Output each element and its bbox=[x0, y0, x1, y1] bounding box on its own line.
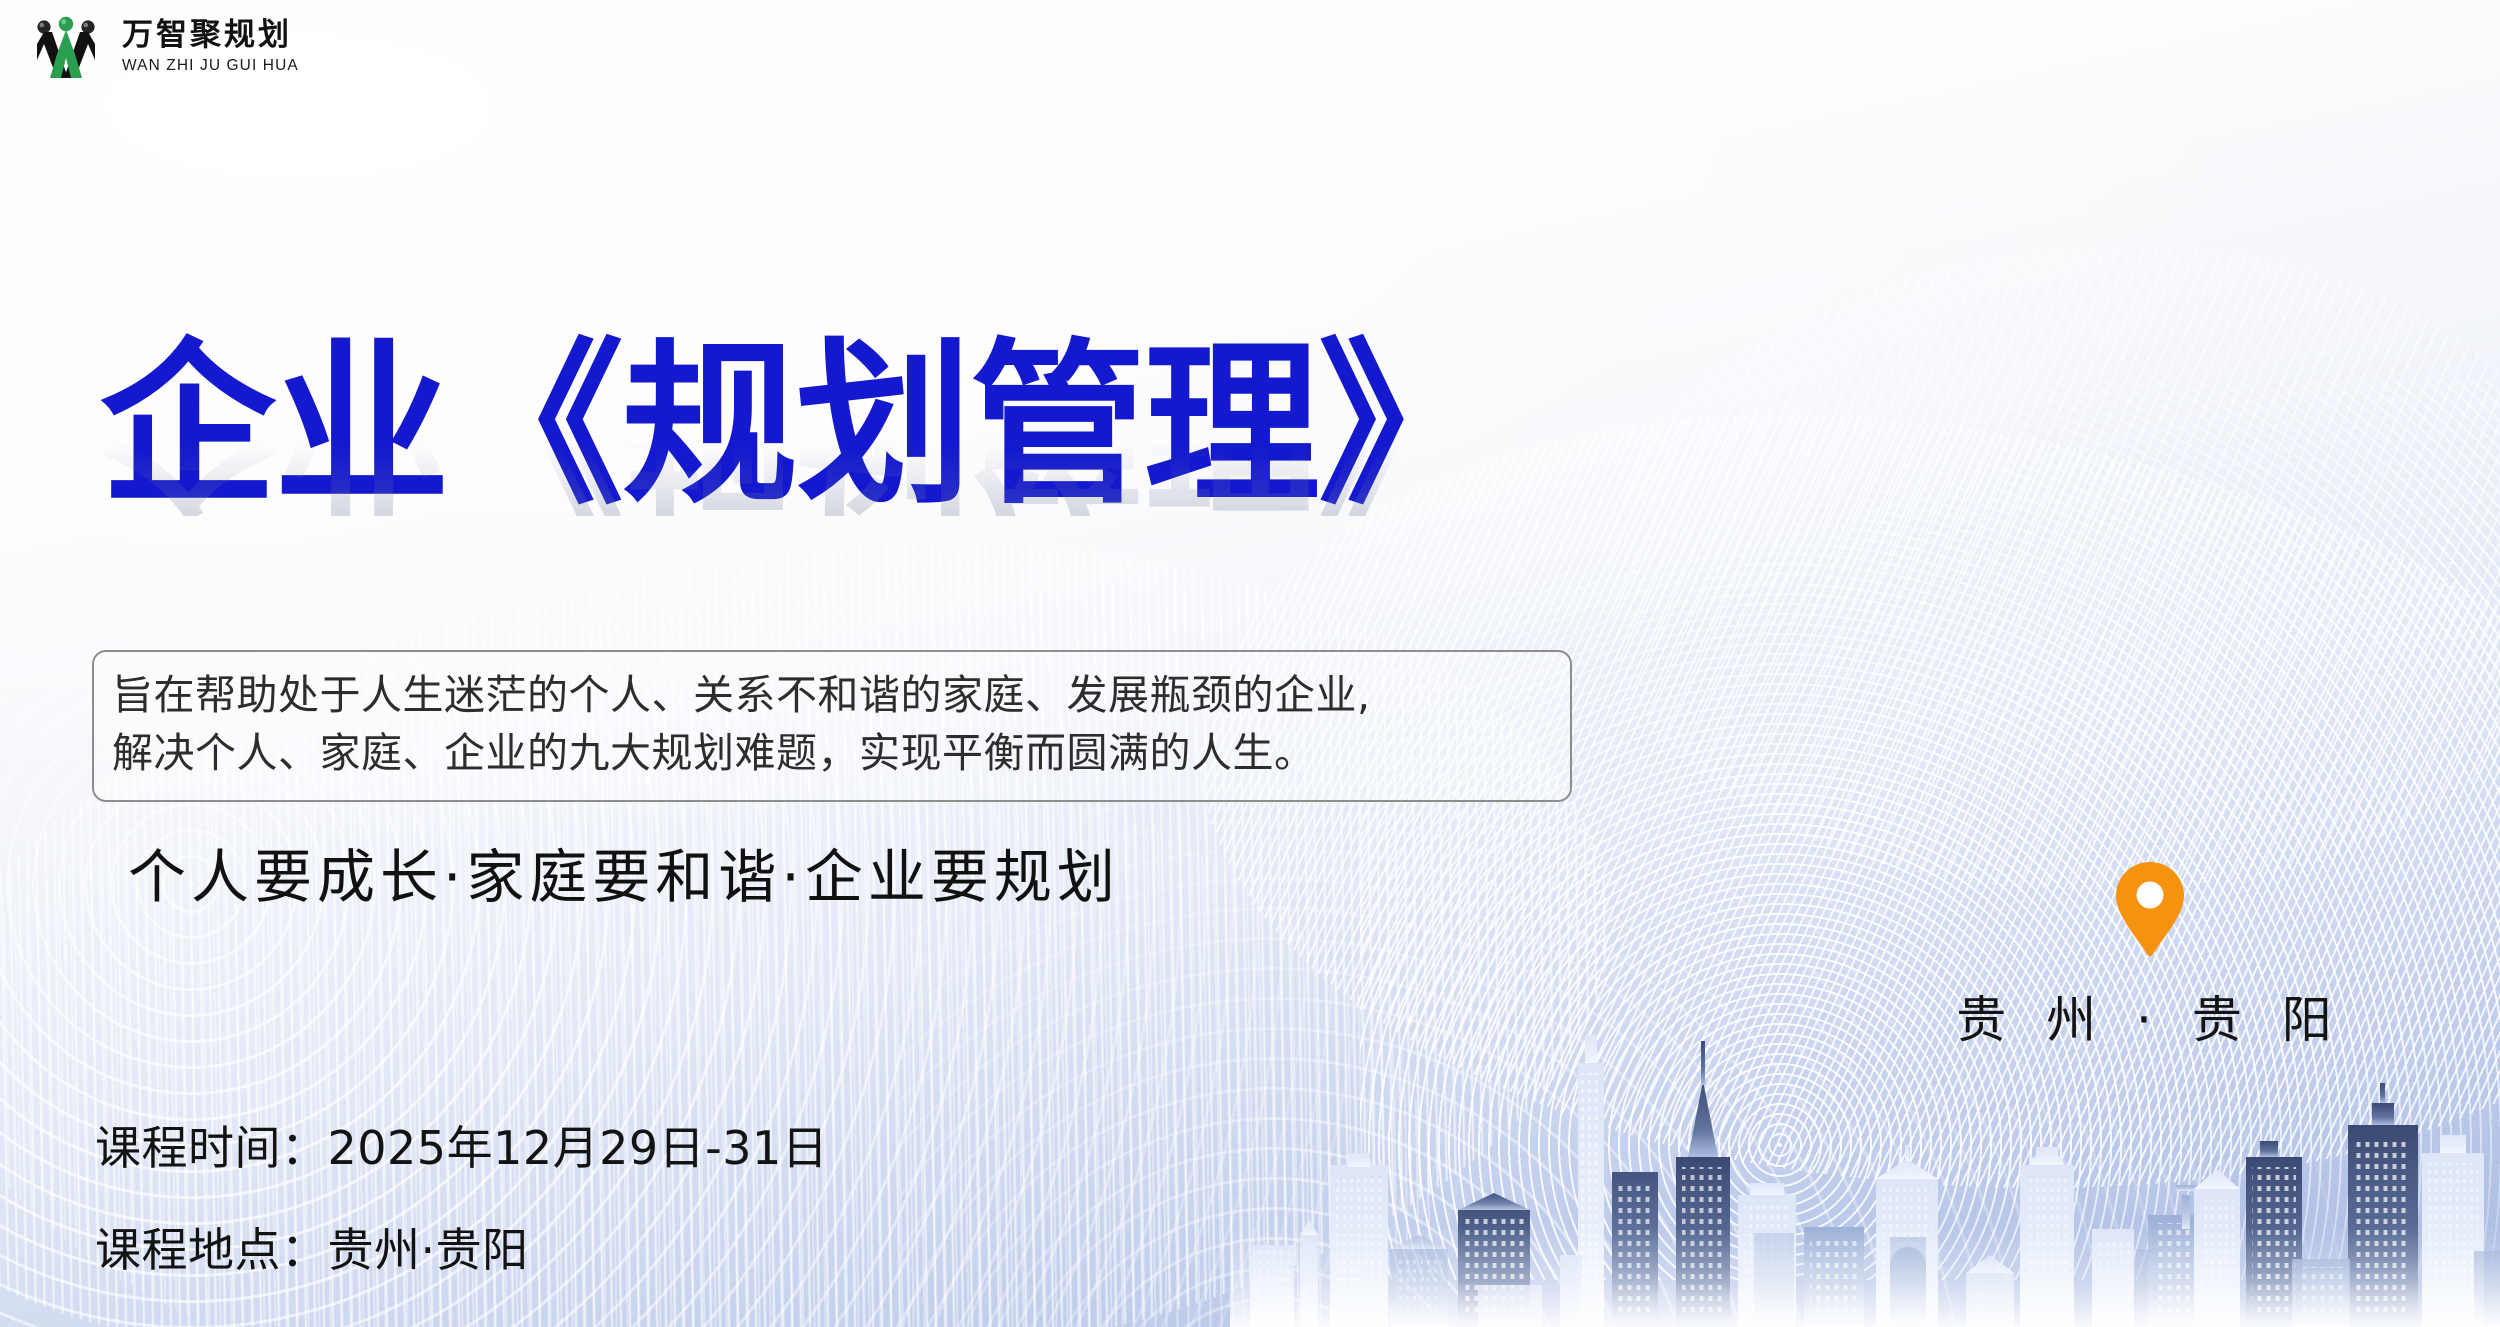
brand-wordmark: 万智聚规划 WAN ZHI JU GUI HUA bbox=[122, 20, 299, 74]
hero-title-block: 企业《规划管理》 企业《规划管理》 bbox=[100, 338, 1492, 600]
course-time-label: 课程时间：2025年12月29日-31日 bbox=[95, 1112, 828, 1178]
description-box: 旨在帮助处于人生迷茫的个人、关系不和谐的家庭、发展瓶颈的企业, 解决个人、家庭、… bbox=[92, 650, 1572, 802]
description-line-1: 旨在帮助处于人生迷茫的个人、关系不和谐的家庭、发展瓶颈的企业, bbox=[112, 666, 1554, 724]
slogan-text: 个人要成长·家庭要和谐·企业要规划 bbox=[128, 848, 1120, 906]
page-title: 企业《规划管理》 bbox=[100, 338, 1492, 514]
description-line-2: 解决个人、家庭、企业的九大规划难题，实现平衡而圆满的人生。 bbox=[112, 724, 1554, 782]
contour-lines-right-icon bbox=[1360, 380, 2500, 1280]
location-badge: 贵 州 · 贵 阳 bbox=[1950, 860, 2350, 1052]
brand-name-cn: 万智聚规划 bbox=[122, 20, 299, 51]
three-people-mountain-logo-icon bbox=[24, 14, 108, 80]
brand-name-en: WAN ZHI JU GUI HUA bbox=[122, 58, 299, 74]
course-place-label: 课程地点：贵州·贵阳 bbox=[95, 1214, 828, 1280]
location-city-label: 贵 州 · 贵 阳 bbox=[1950, 980, 2350, 1052]
course-info-block: 课程时间：2025年12月29日-31日 课程地点：贵州·贵阳 bbox=[95, 1112, 828, 1280]
brand-logo: 万智聚规划 WAN ZHI JU GUI HUA bbox=[24, 14, 299, 80]
wave-lines-upper-right-icon bbox=[1589, 217, 2500, 924]
map-pin-icon bbox=[2113, 860, 2187, 958]
poster-canvas: 万智聚规划 WAN ZHI JU GUI HUA 企业《规划管理》 企业《规划管… bbox=[0, 0, 2500, 1327]
